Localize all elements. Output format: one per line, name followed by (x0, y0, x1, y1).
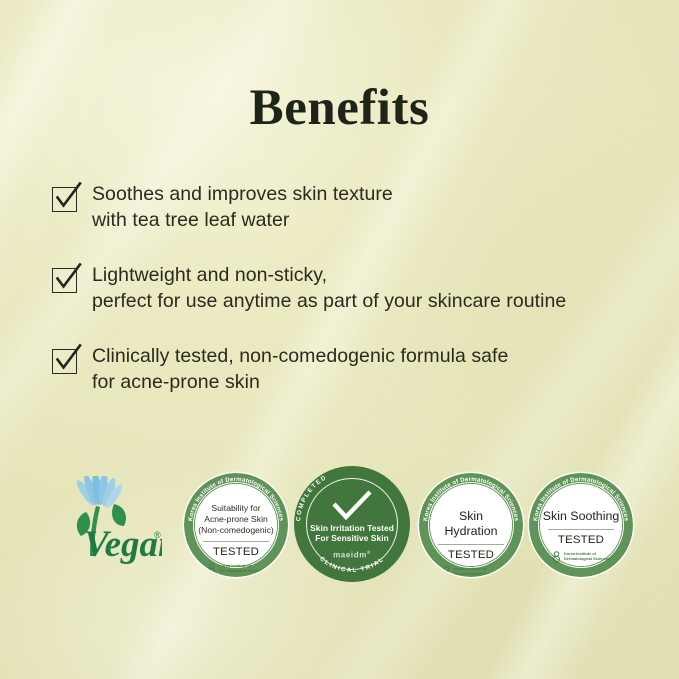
svg-text:®: ® (154, 530, 161, 540)
institute-name: Korea Institute of Dermatological Scienc… (454, 567, 500, 576)
seal-status: TESTED (197, 546, 275, 558)
seal-skin-hydration: Korea Institute of Dermatological Scienc… (418, 472, 524, 578)
list-item-label: Lightweight and non-sticky, perfect for … (92, 263, 566, 314)
seal-claim: Skin Soothing (542, 503, 620, 524)
kids-institute-logo: Korea Institute of Dermatological Scienc… (542, 551, 620, 563)
checkbox-checked-icon (52, 268, 77, 293)
seal-divider (548, 529, 614, 530)
institute-mark-icon (207, 563, 216, 575)
checkbox-checked-icon (52, 187, 77, 212)
seal-divider (203, 541, 269, 542)
seal-claim: Suitability for Acne-prone Skin (Non-com… (197, 503, 275, 536)
list-item-label: Clinically tested, non-comedogenic formu… (92, 344, 508, 395)
checkbox-checked-icon (52, 349, 77, 374)
institute-name: Korea Institute of Dermatological Scienc… (219, 564, 265, 573)
kids-institute-logo: Korea Institute of Dermatological Scienc… (432, 566, 510, 578)
vegan-flower-icon (74, 476, 125, 510)
kids-institute-logo: Korea Institute of Dermatological Scienc… (197, 563, 275, 575)
list-item: Soothes and improves skin texture with t… (52, 182, 652, 233)
seal-skin-soothing: Korea Institute of Dermatological Scienc… (528, 472, 634, 578)
list-item: Clinically tested, non-comedogenic formu… (52, 344, 652, 395)
list-item: Lightweight and non-sticky, perfect for … (52, 263, 652, 314)
seal-divider (438, 544, 504, 545)
benefits-list: Soothes and improves skin texture with t… (52, 182, 652, 395)
seal-skin-irritation: COMPLETED CLINICAL TRIAL Skin Irritation… (294, 466, 410, 582)
page-title: Benefits (0, 79, 679, 137)
vegan-logo: Vegan ® (50, 476, 162, 572)
seal-acne-prone: Korea Institute of Dermatological Scienc… (183, 472, 289, 578)
svg-text:Vegan: Vegan (84, 524, 162, 565)
checkmark-icon (310, 490, 394, 520)
benefits-infographic: Benefits Soothes and improves skin textu… (0, 0, 679, 679)
seal-claim: Skin Hydration (432, 503, 510, 539)
seal-brand: maeidm® (310, 550, 394, 560)
seal-status: TESTED (432, 549, 510, 561)
certification-badges-row: Vegan ® Korea Institute of Dermatologica… (0, 462, 679, 590)
vegan-wordmark: Vegan ® (84, 524, 162, 565)
seal-status: TESTED (542, 534, 620, 546)
seal-claim: Skin Irritation Tested For Sensitive Ski… (310, 523, 394, 543)
institute-mark-icon (552, 551, 561, 563)
list-item-label: Soothes and improves skin texture with t… (92, 182, 393, 233)
institute-mark-icon (442, 566, 451, 578)
institute-name: Korea Institute of Dermatological Scienc… (564, 552, 610, 561)
